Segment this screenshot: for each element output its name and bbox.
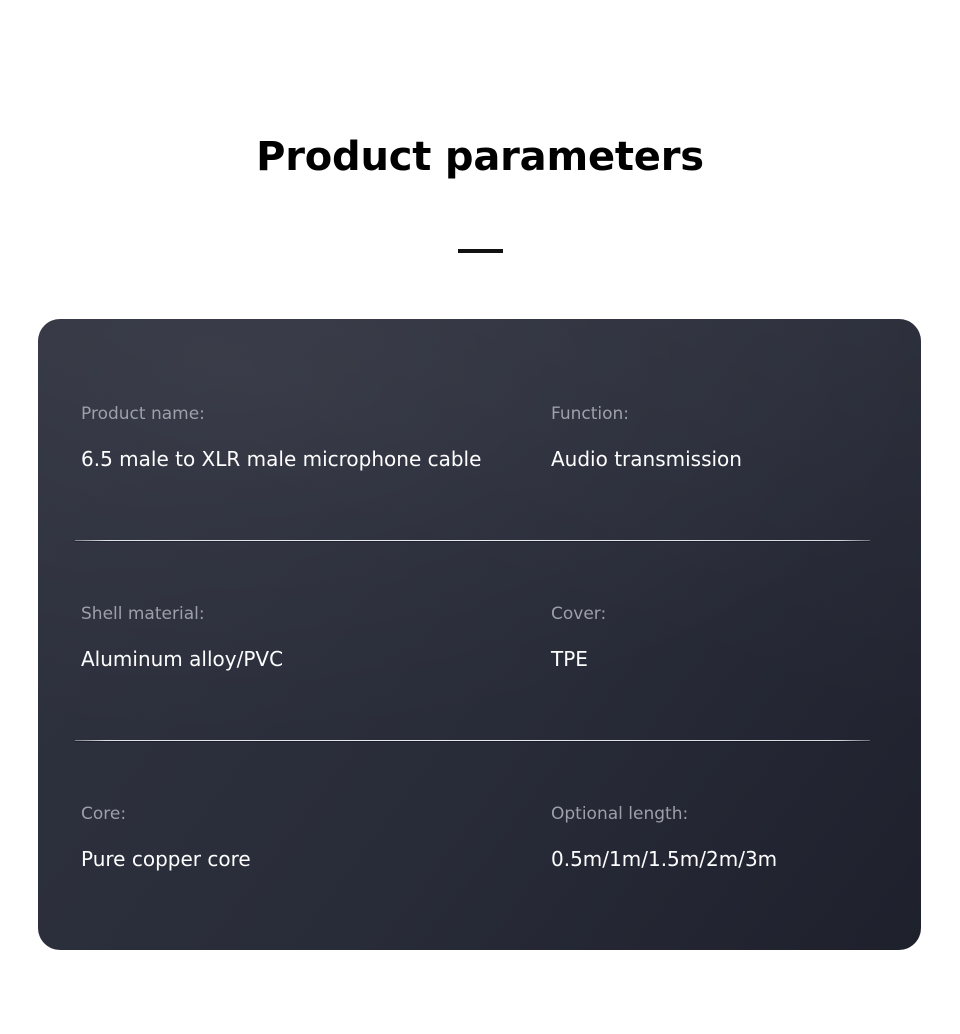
spec-label: Function: bbox=[551, 404, 891, 425]
title-underline-divider bbox=[458, 249, 503, 253]
spec-row: Core: Pure copper core Optional length: … bbox=[38, 719, 921, 919]
spec-label: Shell material: bbox=[81, 604, 551, 625]
spec-row: Product name: 6.5 male to XLR male micro… bbox=[38, 319, 921, 519]
spec-cell-function: Function: Audio transmission bbox=[551, 404, 891, 472]
spec-cell-shell-material: Shell material: Aluminum alloy/PVC bbox=[81, 604, 551, 672]
spec-cell-cover: Cover: TPE bbox=[551, 604, 891, 672]
spec-value: Audio transmission bbox=[551, 447, 891, 472]
product-parameters-page: Product parameters Product name: 6.5 mal… bbox=[0, 0, 960, 1034]
spec-value: Aluminum alloy/PVC bbox=[81, 647, 551, 672]
spec-label: Cover: bbox=[551, 604, 891, 625]
spec-label: Core: bbox=[81, 804, 551, 825]
spec-value: Pure copper core bbox=[81, 847, 551, 872]
spec-label: Product name: bbox=[81, 404, 551, 425]
spec-cell-product-name: Product name: 6.5 male to XLR male micro… bbox=[81, 404, 551, 472]
spec-value: 0.5m/1m/1.5m/2m/3m bbox=[551, 847, 891, 872]
spec-value: 6.5 male to XLR male microphone cable bbox=[81, 447, 551, 472]
specification-grid: Product name: 6.5 male to XLR male micro… bbox=[38, 319, 921, 950]
specification-card: Product name: 6.5 male to XLR male micro… bbox=[38, 319, 921, 950]
spec-cell-optional-length: Optional length: 0.5m/1m/1.5m/2m/3m bbox=[551, 804, 891, 872]
spec-value: TPE bbox=[551, 647, 891, 672]
page-title: Product parameters bbox=[0, 133, 960, 181]
spec-row: Shell material: Aluminum alloy/PVC Cover… bbox=[38, 519, 921, 719]
spec-label: Optional length: bbox=[551, 804, 891, 825]
spec-cell-core: Core: Pure copper core bbox=[81, 804, 551, 872]
